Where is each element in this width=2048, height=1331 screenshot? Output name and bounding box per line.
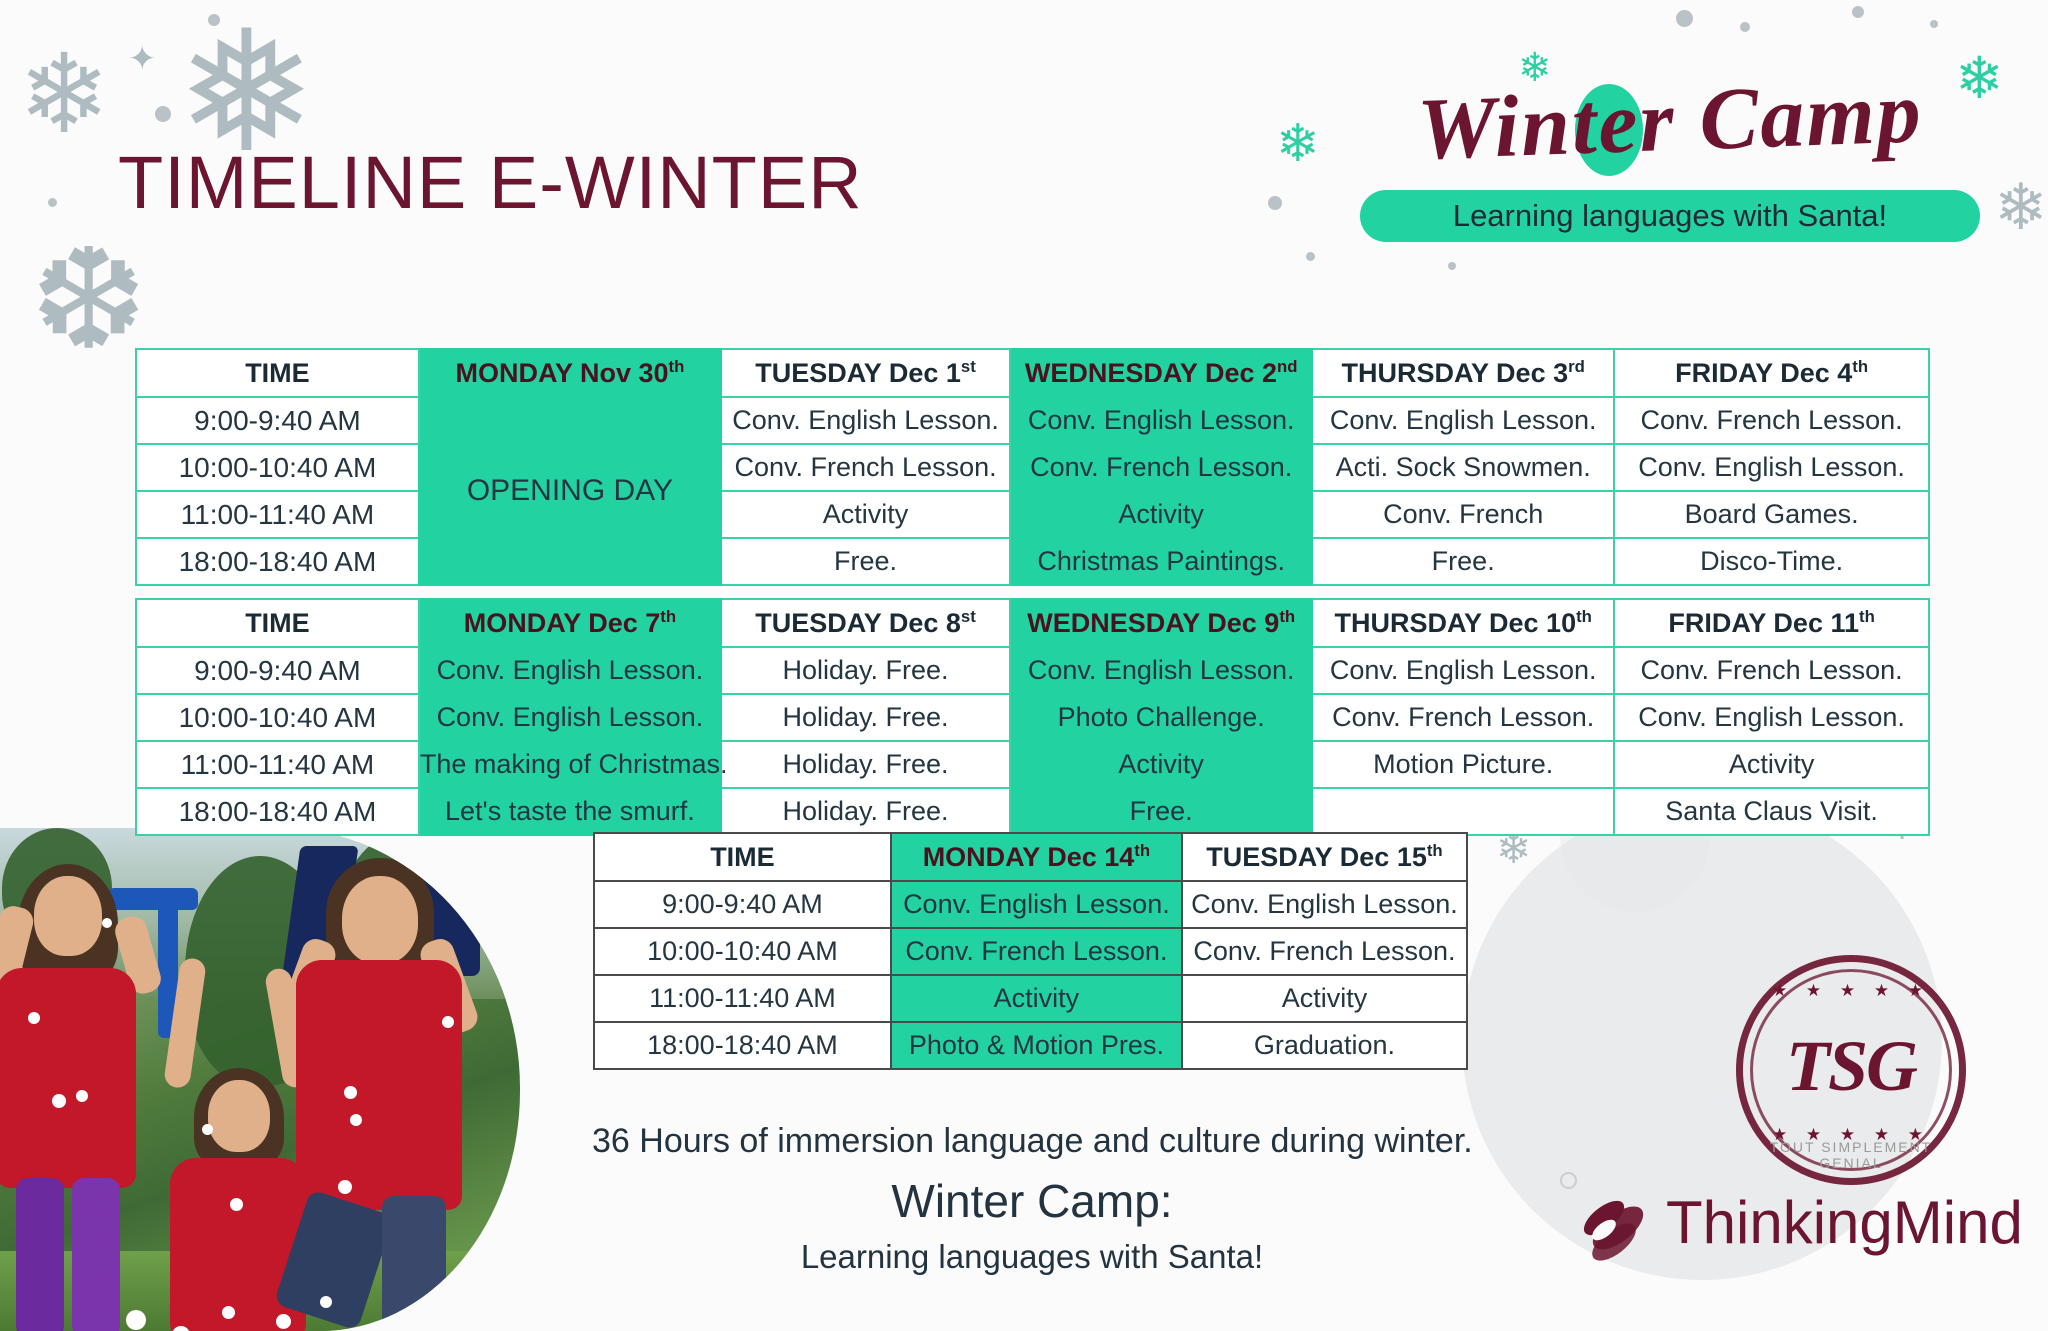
- activity-cell: Activity: [1182, 975, 1467, 1022]
- time-cell: 11:00-11:40 AM: [136, 741, 419, 788]
- column-header-time: TIME: [594, 833, 891, 881]
- table-row: 11:00-11:40 AMActivityActivity: [594, 975, 1467, 1022]
- camp-subtitle: Learning languages with Santa!: [592, 1238, 1472, 1276]
- page-title: TIMELINE E-WINTER: [118, 140, 863, 225]
- activity-cell: Holiday. Free.: [721, 788, 1010, 835]
- tsg-stamp: ★ ★ ★ ★ ★ TSG ★ ★ ★ ★ ★ TOUT SIMPLEMENT …: [1736, 955, 1966, 1185]
- decor-dot: [1306, 252, 1315, 261]
- activity-cell: Holiday. Free.: [721, 741, 1010, 788]
- column-header-day: MONDAY Nov 30th: [419, 349, 721, 397]
- column-header-day: TUESDAY Dec 1st: [721, 349, 1010, 397]
- ordinal-suffix: nd: [1277, 357, 1297, 376]
- schedule-table-week-3: TIMEMONDAY Dec 14thTUESDAY Dec 15th9:00-…: [593, 832, 1468, 1070]
- table-row: 18:00-18:40 AMPhoto & Motion Pres.Gradua…: [594, 1022, 1467, 1069]
- ordinal-suffix: th: [1427, 841, 1443, 860]
- activity-cell: Free.: [1312, 538, 1614, 585]
- table-header-row: TIMEMONDAY Nov 30thTUESDAY Dec 1stWEDNES…: [136, 349, 1929, 397]
- table-row: 9:00-9:40 AMConv. English Lesson.Holiday…: [136, 647, 1929, 694]
- column-header-day: FRIDAY Dec 11th: [1614, 599, 1929, 647]
- activity-cell: Conv. French Lesson.: [1010, 444, 1312, 491]
- column-header-day: THURSDAY Dec 3rd: [1312, 349, 1614, 397]
- decor-dot: [1560, 1172, 1577, 1189]
- time-cell: 18:00-18:40 AM: [136, 538, 419, 585]
- time-cell: 9:00-9:40 AM: [136, 397, 419, 444]
- hours-line: 36 Hours of immersion language and cultu…: [592, 1122, 1473, 1161]
- photo-snow-dot: [230, 1198, 243, 1211]
- time-cell: 18:00-18:40 AM: [136, 788, 419, 835]
- table-row: 11:00-11:40 AMThe making of Christmas.Ho…: [136, 741, 1929, 788]
- activity-cell: Activity: [1614, 741, 1929, 788]
- activity-cell: Free.: [721, 538, 1010, 585]
- ordinal-suffix: th: [669, 357, 685, 376]
- time-cell: 11:00-11:40 AM: [594, 975, 891, 1022]
- activity-cell: Activity: [1010, 741, 1312, 788]
- decor-dot: [155, 106, 171, 122]
- activity-cell: Conv. English Lesson.: [1312, 397, 1614, 444]
- activity-cell: Photo Challenge.: [1010, 694, 1312, 741]
- column-header-day: WEDNESDAY Dec 9th: [1010, 599, 1312, 647]
- activity-cell: Motion Picture.: [1312, 741, 1614, 788]
- activity-cell: Conv. French Lesson.: [891, 928, 1182, 975]
- decor-dot: [48, 198, 57, 207]
- activity-cell: Conv. French Lesson.: [1614, 647, 1929, 694]
- column-header-time: TIME: [136, 349, 419, 397]
- camp-name: Winter Camp:: [592, 1174, 1472, 1228]
- time-cell: 10:00-10:40 AM: [136, 444, 419, 491]
- time-cell: 11:00-11:40 AM: [136, 491, 419, 538]
- logo-tagline: Learning languages with Santa!: [1360, 190, 1980, 242]
- winter-camp-logo: Winter Camp Learning languages with Sant…: [1320, 62, 2020, 252]
- activity-cell: Board Games.: [1614, 491, 1929, 538]
- activity-cell: Conv. English Lesson.: [1010, 397, 1312, 444]
- table-header-row: TIMEMONDAY Dec 7thTUESDAY Dec 8stWEDNESD…: [136, 599, 1929, 647]
- column-header-day: WEDNESDAY Dec 2nd: [1010, 349, 1312, 397]
- decor-dot: [1740, 22, 1750, 32]
- ordinal-suffix: th: [1852, 357, 1868, 376]
- time-cell: 9:00-9:40 AM: [136, 647, 419, 694]
- time-cell: 9:00-9:40 AM: [594, 881, 891, 928]
- activity-cell: Activity: [1010, 491, 1312, 538]
- children-photo: [0, 828, 520, 1331]
- thinkingmind-logo: ThinkingMind: [1574, 1188, 2044, 1278]
- ordinal-suffix: rd: [1568, 357, 1585, 376]
- snowflake-icon: ❆: [30, 230, 147, 370]
- activity-cell: Conv. English Lesson.: [419, 694, 721, 741]
- ordinal-suffix: th: [1134, 841, 1150, 860]
- column-header-day: THURSDAY Dec 10th: [1312, 599, 1614, 647]
- activity-cell: Conv. English Lesson.: [1614, 444, 1929, 491]
- activity-cell: Let's taste the smurf.: [419, 788, 721, 835]
- photo-playground-bar: [108, 888, 198, 910]
- photo-snow-dot: [102, 918, 112, 928]
- activity-cell: Activity: [721, 491, 1010, 538]
- activity-cell: Conv. French Lesson.: [1182, 928, 1467, 975]
- ordinal-suffix: th: [1859, 607, 1875, 626]
- activity-cell: Conv. French Lesson.: [1614, 397, 1929, 444]
- activity-cell: Conv. English Lesson.: [1614, 694, 1929, 741]
- snowflake-icon: ✦: [128, 42, 157, 76]
- time-cell: 18:00-18:40 AM: [594, 1022, 891, 1069]
- snowflake-icon: ❄: [18, 40, 110, 150]
- stamp-motto: TOUT SIMPLEMENT GENIAL: [1736, 1139, 1966, 1171]
- logo-wordmark: Winter Camp: [1318, 50, 2022, 194]
- activity-cell: Holiday. Free.: [721, 694, 1010, 741]
- activity-cell: [1312, 788, 1614, 835]
- time-cell: 10:00-10:40 AM: [136, 694, 419, 741]
- decor-dot: [1852, 6, 1864, 18]
- photo-snow-dot: [338, 1180, 352, 1194]
- snowflake-icon: ❄: [1276, 118, 1320, 170]
- activity-cell: Conv. French: [1312, 491, 1614, 538]
- activity-cell: Conv. English Lesson.: [721, 397, 1010, 444]
- activity-cell: Disco-Time.: [1614, 538, 1929, 585]
- table-row: 9:00-9:40 AMOPENING DAYConv. English Les…: [136, 397, 1929, 444]
- stamp-initials: TSG: [1736, 1025, 1966, 1108]
- decor-dot: [1268, 196, 1282, 210]
- column-header-day: TUESDAY Dec 8st: [721, 599, 1010, 647]
- ordinal-suffix: th: [660, 607, 676, 626]
- ordinal-suffix: th: [1576, 607, 1592, 626]
- activity-cell: Conv. French Lesson.: [721, 444, 1010, 491]
- table-row: 10:00-10:40 AMConv. French Lesson.Conv. …: [136, 444, 1929, 491]
- photo-snow-dot: [222, 1306, 235, 1319]
- ordinal-suffix: st: [961, 357, 976, 376]
- ordinal-suffix: st: [961, 607, 976, 626]
- activity-cell: Conv. English Lesson.: [1010, 647, 1312, 694]
- photo-snow-dot: [320, 1296, 332, 1308]
- activity-cell: Conv. English Lesson.: [891, 881, 1182, 928]
- merged-opening-day-cell: OPENING DAY: [419, 397, 721, 585]
- photo-snow-dot: [276, 1314, 291, 1329]
- photo-snow-dot: [126, 1310, 146, 1330]
- stamp-stars-top: ★ ★ ★ ★ ★: [1736, 981, 1966, 1001]
- decor-dot: [1676, 10, 1693, 27]
- column-header-day: MONDAY Dec 7th: [419, 599, 721, 647]
- table-row: 9:00-9:40 AMConv. English Lesson.Conv. E…: [594, 881, 1467, 928]
- photo-snow-dot: [350, 1114, 362, 1126]
- photo-snow-dot: [52, 1094, 66, 1108]
- table-row: 10:00-10:40 AMConv. French Lesson.Conv. …: [594, 928, 1467, 975]
- activity-cell: The making of Christmas.: [419, 741, 721, 788]
- column-header-time: TIME: [136, 599, 419, 647]
- activity-cell: Photo & Motion Pres.: [891, 1022, 1182, 1069]
- ordinal-suffix: th: [1279, 607, 1295, 626]
- decor-dot: [1448, 262, 1456, 270]
- activity-cell: Conv. English Lesson.: [419, 647, 721, 694]
- activity-cell: Holiday. Free.: [721, 647, 1010, 694]
- photo-snow-dot: [76, 1090, 88, 1102]
- swirl-icon: [1574, 1192, 1656, 1266]
- activity-cell: Free.: [1010, 788, 1312, 835]
- table-header-row: TIMEMONDAY Dec 14thTUESDAY Dec 15th: [594, 833, 1467, 881]
- column-header-day: TUESDAY Dec 15th: [1182, 833, 1467, 881]
- activity-cell: Santa Claus Visit.: [1614, 788, 1929, 835]
- thinkingmind-wordmark: ThinkingMind: [1666, 1188, 2023, 1257]
- photo-snow-dot: [202, 1124, 213, 1135]
- activity-cell: Conv. English Lesson.: [1182, 881, 1467, 928]
- photo-snow-dot: [442, 1016, 454, 1028]
- photo-snow-dot: [344, 1086, 357, 1099]
- schedule-table-week-2: TIMEMONDAY Dec 7thTUESDAY Dec 8stWEDNESD…: [135, 598, 1930, 836]
- decor-dot: [208, 14, 220, 26]
- activity-cell: Conv. French Lesson.: [1312, 694, 1614, 741]
- activity-cell: Conv. English Lesson.: [1312, 647, 1614, 694]
- table-row: 10:00-10:40 AMConv. English Lesson.Holid…: [136, 694, 1929, 741]
- table-row: 11:00-11:40 AMActivityActivityConv. Fren…: [136, 491, 1929, 538]
- column-header-day: MONDAY Dec 14th: [891, 833, 1182, 881]
- decor-dot: [1930, 20, 1938, 28]
- activity-cell: Graduation.: [1182, 1022, 1467, 1069]
- schedule-table-week-1: TIMEMONDAY Nov 30thTUESDAY Dec 1stWEDNES…: [135, 348, 1930, 586]
- column-header-day: FRIDAY Dec 4th: [1614, 349, 1929, 397]
- activity-cell: Christmas Paintings.: [1010, 538, 1312, 585]
- time-cell: 10:00-10:40 AM: [594, 928, 891, 975]
- photo-snow-dot: [28, 1012, 40, 1024]
- activity-cell: Acti. Sock Snowmen.: [1312, 444, 1614, 491]
- table-row: 18:00-18:40 AMLet's taste the smurf.Holi…: [136, 788, 1929, 835]
- activity-cell: Activity: [891, 975, 1182, 1022]
- table-row: 18:00-18:40 AMFree.Christmas Paintings.F…: [136, 538, 1929, 585]
